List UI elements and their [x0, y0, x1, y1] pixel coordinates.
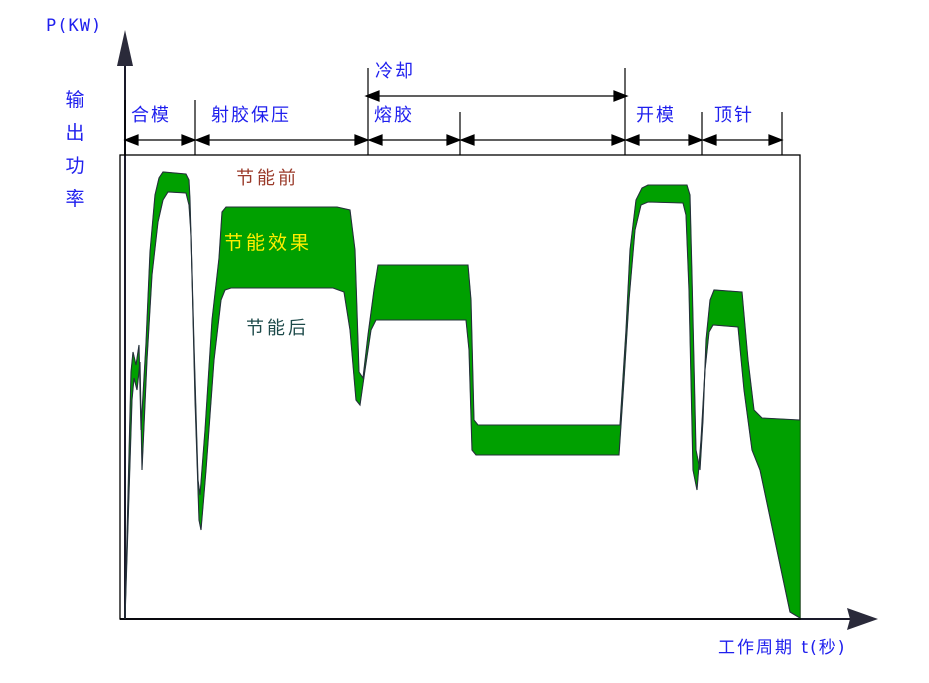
cooling-label: 冷却	[375, 63, 415, 81]
y-axis-title: P(KW)	[46, 18, 102, 35]
phase-label-4: 开模	[636, 107, 676, 125]
label-before-saving: 节能前	[236, 170, 299, 188]
phase-label-1: 射胶保压	[211, 107, 291, 125]
phase-label-5: 顶针	[714, 107, 754, 125]
label-after-saving: 节能后	[246, 320, 309, 338]
chart-canvas: P(KW) 输出功率 工作周期 t(秒) 合模 射胶保压 熔胶 开模 顶针 冷却…	[0, 0, 929, 683]
cooling-span-arrow	[366, 91, 627, 101]
power-curve-svg	[0, 0, 929, 683]
y-axis-vertical-label: 输出功率	[62, 84, 88, 216]
phase-label-0: 合模	[131, 107, 171, 125]
label-saving-effect: 节能效果	[224, 234, 312, 253]
x-axis-title: 工作周期 t(秒)	[718, 640, 846, 657]
phase-label-2: 熔胶	[374, 107, 414, 125]
phase-arrows	[125, 135, 782, 145]
